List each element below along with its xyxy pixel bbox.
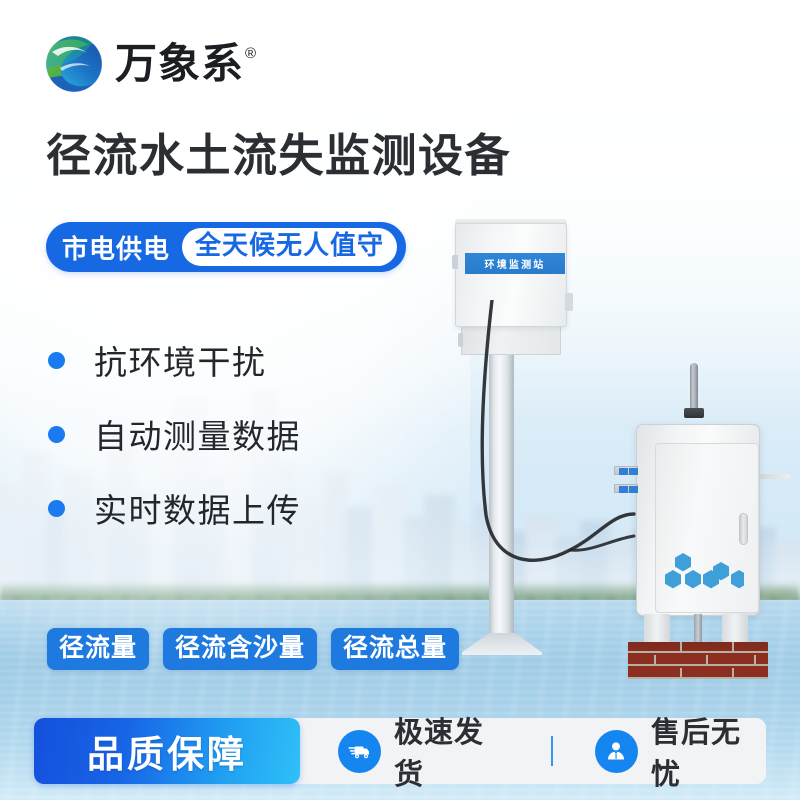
badge-secondary-label: 全天候无人值守	[182, 228, 397, 266]
feature-label: 抗环境干扰	[94, 336, 267, 384]
customer-service-person-icon	[595, 730, 638, 773]
feature-label: 实时数据上传	[94, 484, 301, 532]
service-fast-shipping: 极速发货	[338, 709, 509, 793]
quality-guarantee-label: 品质保障	[87, 724, 247, 778]
list-item: 抗环境干扰	[48, 323, 301, 397]
hexagon-pattern-icon	[664, 553, 744, 593]
cable-connector-block-2	[614, 484, 638, 493]
tag-runoff-volume: 径流量	[47, 628, 149, 670]
bullet-dot-icon	[48, 426, 65, 443]
feature-list: 抗环境干扰 自动测量数据 实时数据上传	[48, 323, 301, 545]
bar-divider	[551, 736, 553, 766]
trust-bar: 品质保障 极速发货	[34, 718, 766, 784]
measurement-tags: 径流量 径流含沙量 径流总量	[47, 628, 459, 670]
badge-primary-label: 市电供电	[62, 229, 182, 266]
station-clip-lower	[458, 333, 463, 347]
station-label-banner: 环境监测站	[465, 253, 565, 274]
bullet-dot-icon	[48, 352, 65, 369]
delivery-truck-icon	[338, 730, 381, 773]
station-clip-right	[565, 293, 573, 311]
station-clip-left	[452, 255, 458, 269]
environment-monitoring-station: 环境监测站	[430, 215, 610, 675]
list-item: 实时数据上传	[48, 471, 301, 545]
service-label: 售后无忧	[651, 709, 766, 793]
station-pole	[489, 337, 514, 642]
monitoring-cabinet	[628, 418, 790, 680]
brick-foundation	[628, 642, 768, 678]
service-label: 极速发货	[394, 709, 509, 793]
station-lower-enclosure	[461, 325, 561, 355]
bullet-dot-icon	[48, 500, 65, 517]
antenna-base	[684, 408, 704, 418]
feature-label: 自动测量数据	[94, 410, 301, 458]
brand-name: 万象系	[115, 43, 244, 85]
quality-guarantee-badge: 品质保障	[34, 718, 300, 784]
station-label-text: 环境监测站	[485, 256, 546, 271]
cable-connector-block-1	[614, 466, 638, 475]
tag-total-runoff: 径流总量	[331, 628, 459, 670]
station-enclosure	[455, 223, 567, 327]
brand-logo: 万象系 ®	[44, 34, 256, 94]
trademark-symbol: ®	[245, 45, 256, 62]
power-badge: 市电供电 全天候无人值守	[46, 222, 406, 272]
station-pole-base	[462, 633, 542, 655]
cabinet-body	[636, 424, 760, 616]
cabinet-door-handle[interactable]	[739, 513, 748, 545]
cabinet-side-arm	[760, 474, 790, 479]
service-after-sales: 售后无忧	[595, 709, 766, 793]
list-item: 自动测量数据	[48, 397, 301, 471]
page-title: 径流水土流失监测设备	[46, 133, 511, 178]
globe-swirl-logo-icon	[44, 34, 104, 94]
antenna-icon	[690, 363, 698, 411]
tag-sediment-content: 径流含沙量	[163, 628, 317, 670]
